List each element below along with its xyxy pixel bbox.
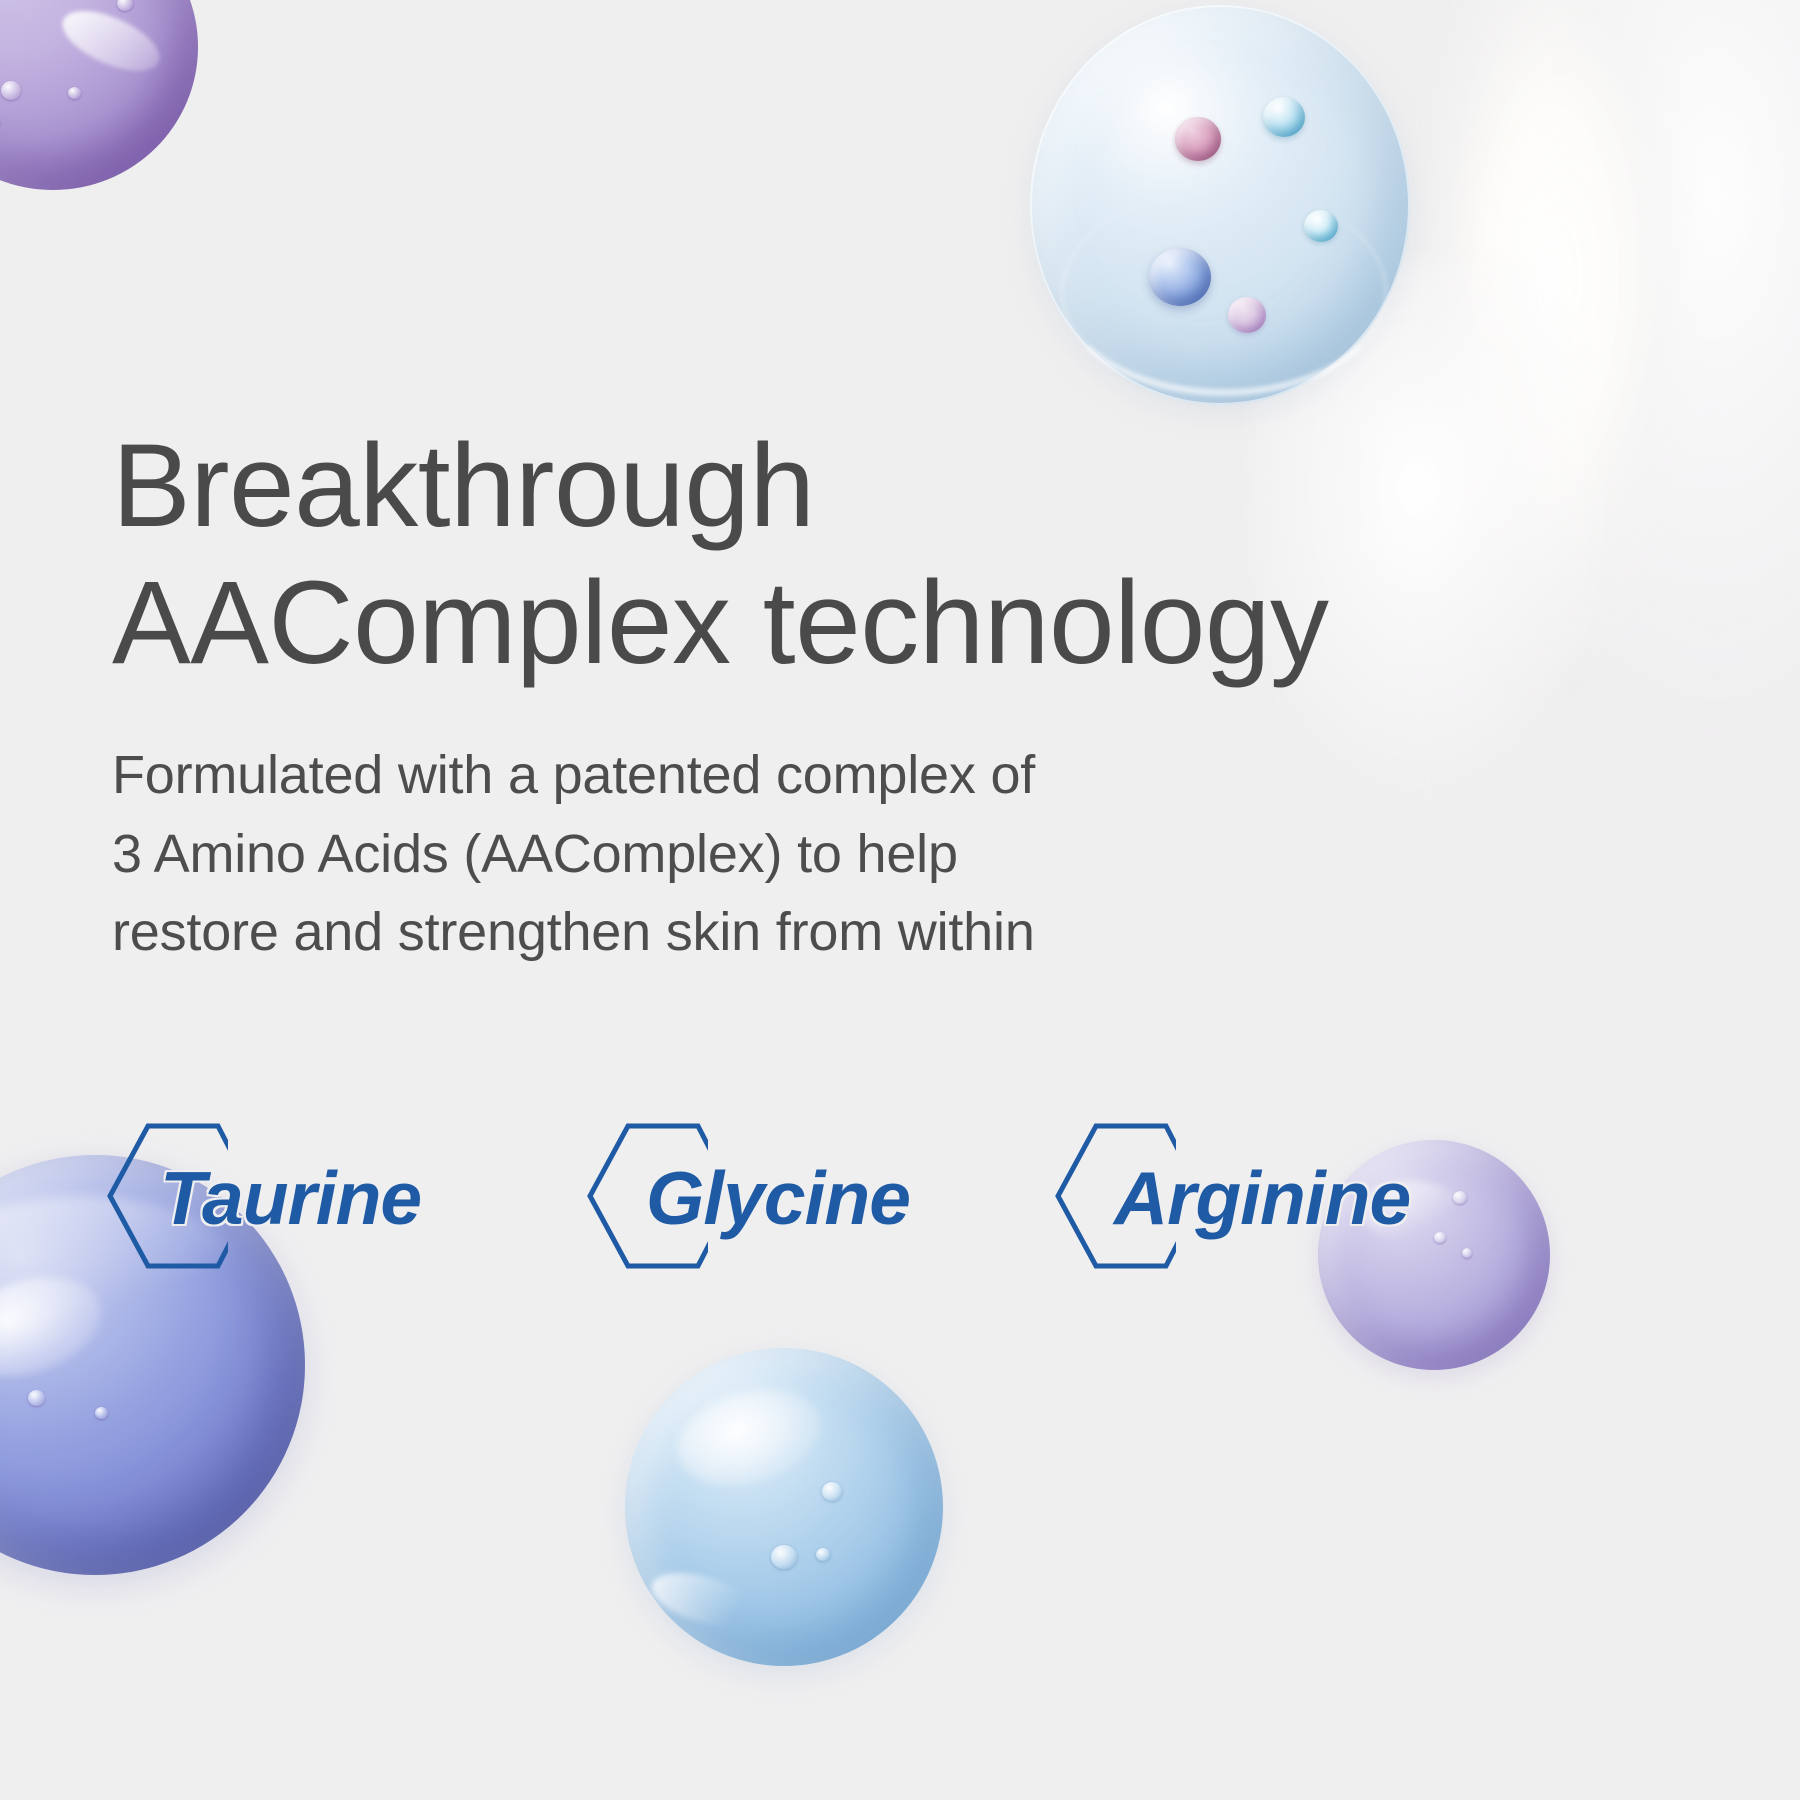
page-title: Breakthrough AAComplex technology [112,418,1632,692]
light-blue-bubble-bottom-center-icon [625,1348,943,1666]
lilac-bubble-top-left-icon [0,0,198,190]
micro-droplet-icon [822,1482,842,1501]
micro-droplet-icon [1,81,21,100]
sphere-rim [1030,5,1410,405]
promo-canvas: Breakthrough AAComplex technology Formul… [0,0,1800,1800]
bubble-highlight [0,1260,114,1395]
droplet-teal-icon [1304,210,1338,242]
bubble-highlight [0,64,1,127]
ingredient-badge-taurine: Taurine [104,1118,421,1278]
micro-droplet-icon [117,0,133,11]
droplet-blue-icon [1149,248,1211,306]
copy-block: Breakthrough AAComplex technology Formul… [112,418,1632,972]
ingredient-badge-glycine: Glycine [584,1118,910,1278]
micro-droplet-icon [771,1545,797,1569]
ingredient-badge-row: Taurine Glycine Arginine [104,1118,1664,1288]
micro-droplet-icon [28,1390,45,1406]
droplet-lilac-icon [1228,297,1266,333]
ingredient-label: Taurine [160,1155,421,1241]
aacomplex-sphere-icon [1030,5,1410,405]
bubble-highlight [646,1563,762,1636]
page-subtitle: Formulated with a patented complex of 3 … [112,736,1632,972]
ingredient-label: Glycine [646,1155,910,1241]
ingredient-label: Arginine [1114,1155,1410,1241]
micro-droplet-icon [816,1548,830,1561]
micro-droplet-icon [68,87,81,99]
bubble-highlight [666,1374,831,1500]
sphere-inner-arc [1060,189,1387,396]
bubble-highlight [54,0,168,83]
micro-droplet-icon [95,1407,108,1419]
droplet-cyan-icon [1263,97,1305,137]
droplet-pink-icon [1175,117,1221,161]
ingredient-badge-arginine: Arginine [1052,1118,1410,1278]
